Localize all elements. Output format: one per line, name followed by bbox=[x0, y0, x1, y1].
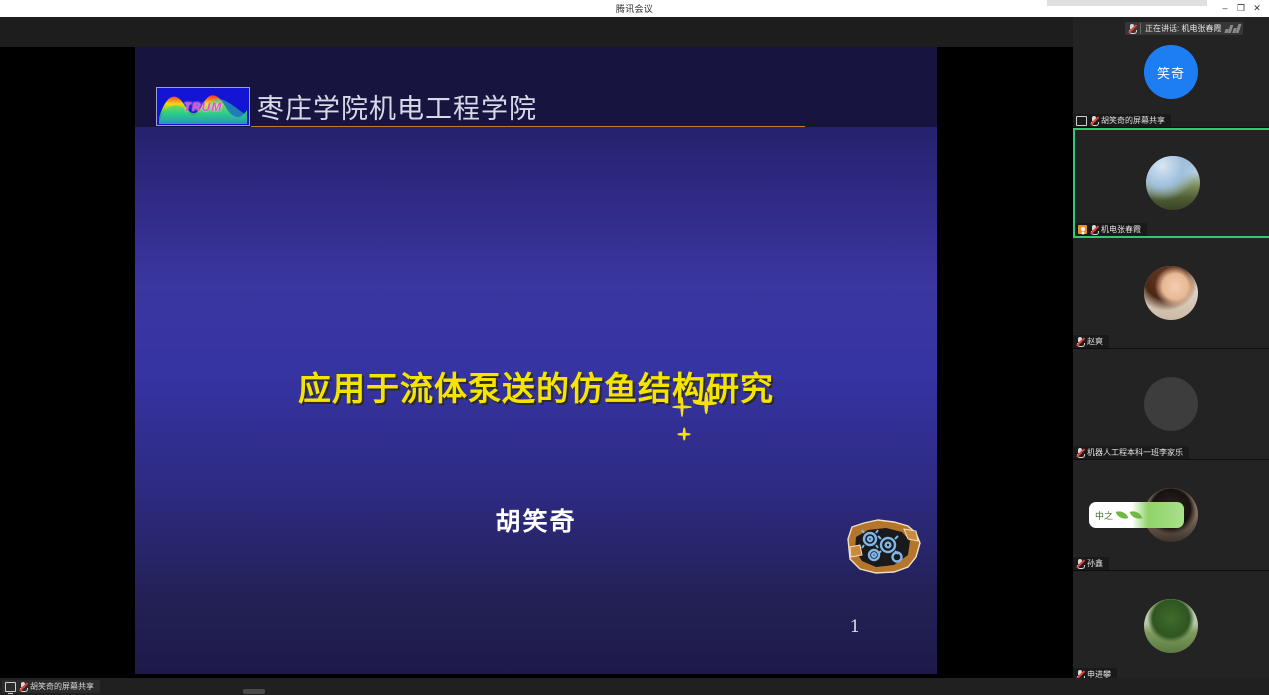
leaf-icon bbox=[1130, 509, 1143, 522]
window-controls: – ❐ ✕ bbox=[1217, 0, 1265, 17]
participant-name: 孙鑫 bbox=[1087, 558, 1103, 569]
tile-namebar: 机电张春霞 bbox=[1075, 223, 1147, 236]
screen-share-status-chip[interactable]: 胡笑奇的屏幕共享 bbox=[2, 680, 100, 693]
presentation-slide: TRUM 枣庄学院机电工程学院 应用于流体泵送的仿鱼结构研究 胡笑奇 bbox=[135, 47, 937, 674]
minimize-icon[interactable]: – bbox=[1217, 0, 1233, 17]
avatar-photo bbox=[1146, 156, 1200, 210]
avatar-initials: 笑奇 bbox=[1144, 45, 1198, 99]
avatar-photo bbox=[1144, 377, 1198, 431]
mic-muted-icon bbox=[1076, 559, 1084, 569]
avatar bbox=[1146, 156, 1200, 210]
avatar bbox=[1144, 266, 1198, 320]
tile-namebar: 机器人工程本科一班李家乐 bbox=[1073, 446, 1189, 459]
bottom-status-bar: 胡笑奇的屏幕共享 bbox=[0, 678, 1269, 695]
window-titlebar: 腾讯会议 – ❐ ✕ bbox=[0, 0, 1269, 17]
participant-tile[interactable]: 机器人工程本科一班李家乐 bbox=[1073, 349, 1269, 460]
stage-top-letterbox bbox=[0, 17, 1073, 47]
avatar-photo bbox=[1144, 599, 1198, 653]
avatar-overlay-badge: 中之 bbox=[1089, 502, 1184, 528]
window-title: 腾讯会议 bbox=[616, 2, 653, 15]
mic-muted-icon bbox=[1128, 24, 1136, 34]
active-speaker-text: 正在讲话: 机电张春霞 bbox=[1140, 23, 1221, 34]
trum-logo: TRUM bbox=[156, 87, 250, 126]
screen-share-status-label: 胡笑奇的屏幕共享 bbox=[30, 681, 94, 692]
tile-namebar: 孙鑫 bbox=[1073, 557, 1109, 570]
overlay-badge-text: 中之 bbox=[1095, 509, 1113, 522]
maximize-icon[interactable]: ❐ bbox=[1233, 0, 1249, 17]
mic-muted-icon bbox=[1090, 225, 1098, 235]
participant-name: 机电张春霞 bbox=[1101, 224, 1141, 235]
titlebar-overlay-strip bbox=[1047, 0, 1207, 6]
close-icon[interactable]: ✕ bbox=[1249, 0, 1265, 17]
participant-name: 赵爽 bbox=[1087, 336, 1103, 347]
mic-muted-icon bbox=[1076, 448, 1084, 458]
avatar-photo bbox=[1144, 266, 1198, 320]
avatar bbox=[1144, 599, 1198, 653]
slide-letterbox: TRUM 枣庄学院机电工程学院 应用于流体泵送的仿鱼结构研究 胡笑奇 bbox=[0, 47, 1073, 678]
tile-namebar: 赵爽 bbox=[1073, 335, 1109, 348]
tile-namebar: 胡笑奇的屏幕共享 bbox=[1073, 114, 1171, 127]
screen-share-icon bbox=[1076, 116, 1087, 126]
active-speaker-banner: 正在讲话: 机电张春霞 bbox=[1125, 22, 1243, 35]
slide-header-rule bbox=[251, 126, 805, 127]
participant-tile[interactable]: 申进攀 bbox=[1073, 571, 1269, 682]
mic-muted-icon bbox=[1076, 337, 1084, 347]
participant-name: 机器人工程本科一班李家乐 bbox=[1087, 447, 1183, 458]
logo-text: TRUM bbox=[157, 88, 249, 125]
bottom-scroll-handle[interactable] bbox=[243, 689, 265, 694]
mic-muted-icon bbox=[1090, 116, 1098, 126]
participant-tile[interactable]: 机电张春霞 bbox=[1073, 128, 1269, 238]
participant-filmstrip[interactable]: 正在讲话: 机电张春霞 笑奇 胡笑奇的屏幕共享 bbox=[1073, 17, 1269, 678]
participant-tile[interactable]: 正在讲话: 机电张春霞 笑奇 胡笑奇的屏幕共享 bbox=[1073, 17, 1269, 128]
avatar bbox=[1144, 377, 1198, 431]
leaf-icon bbox=[1116, 509, 1129, 522]
slide-school-name: 枣庄学院机电工程学院 bbox=[257, 87, 537, 126]
participant-tile[interactable]: 赵爽 bbox=[1073, 238, 1269, 349]
slide-title: 应用于流体泵送的仿鱼结构研究 bbox=[135, 362, 937, 410]
slide-page-number: 1 bbox=[835, 617, 875, 637]
host-badge-icon bbox=[1078, 225, 1087, 234]
slide-author: 胡笑奇 bbox=[135, 502, 937, 538]
audio-wave-icon bbox=[1225, 24, 1240, 33]
participant-tile[interactable]: 中之 孙鑫 bbox=[1073, 460, 1269, 571]
avatar: 笑奇 bbox=[1144, 45, 1198, 99]
gears-artwork bbox=[842, 517, 924, 575]
screen-share-icon bbox=[5, 682, 16, 692]
mic-muted-icon bbox=[19, 682, 27, 692]
sparkle-decoration bbox=[668, 399, 738, 449]
tencent-meeting-window: 腾讯会议 – ❐ ✕ bbox=[0, 0, 1269, 695]
shared-screen-stage[interactable]: TRUM 枣庄学院机电工程学院 应用于流体泵送的仿鱼结构研究 胡笑奇 bbox=[0, 17, 1073, 678]
participant-name: 胡笑奇的屏幕共享 bbox=[1101, 115, 1165, 126]
